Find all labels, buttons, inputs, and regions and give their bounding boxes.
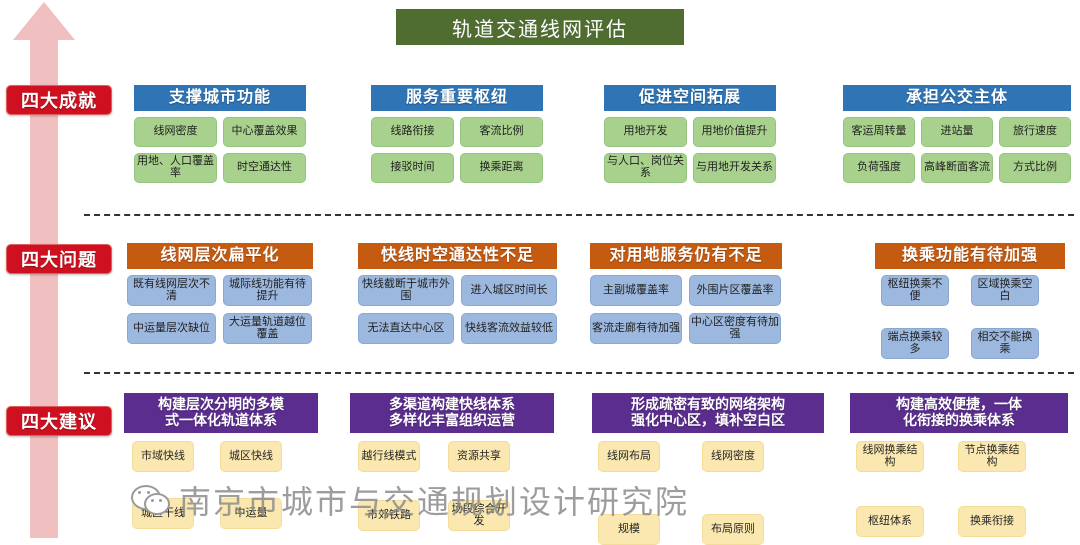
- divider-achievements-problems: [84, 214, 1074, 216]
- group-title-line2: 强化中心区，填补空白区: [631, 413, 785, 429]
- group-cells: 既有线网层次不清 城际线功能有待提升 中运量层次缺位 大运量轨道越位覆盖: [127, 275, 313, 344]
- issue-cell[interactable]: 既有线网层次不清: [127, 275, 216, 306]
- proposal-cell[interactable]: 线网布局: [598, 441, 660, 472]
- metric-cell[interactable]: 旅行速度: [999, 117, 1071, 147]
- issue-cell[interactable]: 客流走廊有待加强: [590, 313, 682, 344]
- metric-cell[interactable]: 用地开发: [604, 117, 687, 147]
- proposal-cell[interactable]: 城区干线: [132, 498, 194, 529]
- row-label-achievements: 四大成就: [6, 85, 112, 115]
- metric-cell[interactable]: 用地、人口覆盖率: [134, 153, 217, 183]
- proposal-cell[interactable]: 市域快线: [132, 441, 194, 472]
- proposal-cell[interactable]: 城区快线: [220, 441, 282, 472]
- problem-group-3: 对用地服务仍有不足 主副城覆盖率 外围片区覆盖率 客流走廊有待加强 中心区密度有…: [590, 243, 782, 344]
- issue-cell[interactable]: 无法直达中心区: [358, 313, 454, 344]
- group-title-line1: 多渠道构建快线体系: [389, 397, 515, 413]
- issue-cell[interactable]: 主副城覆盖率: [590, 275, 682, 306]
- metric-cell[interactable]: 高峰断面客流: [921, 153, 993, 183]
- row-label-problems: 四大问题: [6, 244, 112, 274]
- group-title: 支撑城市功能: [134, 85, 306, 111]
- proposal-cell[interactable]: 线网密度: [702, 441, 764, 472]
- group-title-line1: 构建层次分明的多模: [158, 397, 284, 413]
- achievement-group-3: 促进空间拓展 用地开发 用地价值提升 与人口、岗位关系 与用地开发关系: [604, 85, 776, 183]
- metric-cell[interactable]: 换乘距离: [460, 153, 543, 183]
- group-title: 形成疏密有致的网络架构 强化中心区，填补空白区: [592, 393, 824, 433]
- group-cells: 线网布局 线网密度 规模 布局原则: [592, 441, 824, 545]
- proposal-cell[interactable]: 越行线模式: [358, 441, 420, 472]
- metric-cell[interactable]: 接驳时间: [371, 153, 454, 183]
- group-title: 快线时空通达性不足: [358, 243, 557, 269]
- proposal-cell[interactable]: 场段综合开发: [448, 500, 510, 531]
- group-cells: 枢纽换乘不便 区域换乘空白 端点换乘较多 相交不能换乘: [875, 275, 1065, 359]
- group-title-line2: 式一体化轨道体系: [165, 413, 277, 429]
- metric-cell[interactable]: 线路衔接: [371, 117, 454, 147]
- issue-cell[interactable]: 快线客流效益较低: [461, 313, 557, 344]
- metric-cell[interactable]: 用地价值提升: [693, 117, 776, 147]
- suggestion-group-4: 构建高效便捷，一体 化衔接的换乘体系 线网换乘结构 节点换乘结构 枢纽体系 换乘…: [850, 393, 1068, 537]
- slide-canvas: 轨道交通线网评估 四大成就 四大问题 四大建议 支撑城市功能 线网密度 中心覆盖…: [0, 0, 1080, 538]
- group-title: 促进空间拓展: [604, 85, 776, 111]
- suggestion-group-3: 形成疏密有致的网络架构 强化中心区，填补空白区 线网布局 线网密度 规模 布局原…: [592, 393, 824, 545]
- group-cells: 线路衔接 客流比例 接驳时间 换乘距离: [371, 117, 543, 183]
- achievement-group-2: 服务重要枢纽 线路衔接 客流比例 接驳时间 换乘距离: [371, 85, 543, 183]
- problem-group-4: 换乘功能有待加强 枢纽换乘不便 区域换乘空白 端点换乘较多 相交不能换乘: [875, 243, 1065, 359]
- group-cells: 线网换乘结构 节点换乘结构 枢纽体系 换乘衔接: [850, 441, 1068, 537]
- issue-cell[interactable]: 快线截断于城市外围: [358, 275, 454, 306]
- group-cells: 越行线模式 资源共享 市郊铁路 场段综合开发: [350, 441, 554, 531]
- issue-cell[interactable]: 区域换乘空白: [971, 275, 1039, 306]
- metric-cell[interactable]: 方式比例: [999, 153, 1071, 183]
- group-title: 多渠道构建快线体系 多样化丰富组织运营: [350, 393, 554, 433]
- proposal-cell[interactable]: 换乘衔接: [958, 506, 1026, 537]
- issue-cell[interactable]: 相交不能换乘: [971, 328, 1039, 359]
- proposal-cell[interactable]: 规模: [598, 514, 660, 545]
- suggestion-group-2: 多渠道构建快线体系 多样化丰富组织运营 越行线模式 资源共享 市郊铁路 场段综合…: [350, 393, 554, 531]
- group-title: 承担公交主体: [843, 85, 1071, 111]
- group-title: 换乘功能有待加强: [875, 243, 1065, 269]
- proposal-cell[interactable]: 枢纽体系: [856, 506, 924, 537]
- group-title-line1: 形成疏密有致的网络架构: [631, 397, 785, 413]
- suggestion-group-1: 构建层次分明的多模 式一体化轨道体系 市域快线 城区快线 城区干线 中运量: [124, 393, 318, 529]
- issue-cell[interactable]: 端点换乘较多: [881, 328, 949, 359]
- issue-cell[interactable]: 枢纽换乘不便: [881, 275, 949, 306]
- proposal-cell[interactable]: 线网换乘结构: [856, 441, 924, 472]
- proposal-cell[interactable]: 节点换乘结构: [958, 441, 1026, 472]
- proposal-cell[interactable]: 市郊铁路: [358, 500, 420, 531]
- problem-group-2: 快线时空通达性不足 快线截断于城市外围 进入城区时间长 无法直达中心区 快线客流…: [358, 243, 557, 344]
- proposal-cell[interactable]: 布局原则: [702, 514, 764, 545]
- group-cells: 市域快线 城区快线 城区干线 中运量: [124, 441, 318, 529]
- group-title: 构建高效便捷，一体 化衔接的换乘体系: [850, 393, 1068, 433]
- metric-cell[interactable]: 与用地开发关系: [693, 153, 776, 183]
- issue-cell[interactable]: 大运量轨道越位覆盖: [223, 313, 312, 344]
- group-title-line1: 构建高效便捷，一体: [896, 397, 1022, 413]
- group-cells: 客运周转量 进站量 旅行速度 负荷强度 高峰断面客流 方式比例: [843, 117, 1071, 183]
- metric-cell[interactable]: 客运周转量: [843, 117, 915, 147]
- metric-cell[interactable]: 线网密度: [134, 117, 217, 147]
- group-title-line2: 化衔接的换乘体系: [903, 413, 1015, 429]
- row-label-suggestions: 四大建议: [6, 406, 112, 436]
- problem-group-1: 线网层次扁平化 既有线网层次不清 城际线功能有待提升 中运量层次缺位 大运量轨道…: [127, 243, 313, 344]
- achievement-group-1: 支撑城市功能 线网密度 中心覆盖效果 用地、人口覆盖率 时空通达性: [134, 85, 306, 183]
- metric-cell[interactable]: 中心覆盖效果: [223, 117, 306, 147]
- group-cells: 用地开发 用地价值提升 与人口、岗位关系 与用地开发关系: [604, 117, 776, 183]
- group-title: 服务重要枢纽: [371, 85, 543, 111]
- group-title: 构建层次分明的多模 式一体化轨道体系: [124, 393, 318, 433]
- issue-cell[interactable]: 外围片区覆盖率: [689, 275, 781, 306]
- achievement-group-4: 承担公交主体 客运周转量 进站量 旅行速度 负荷强度 高峰断面客流 方式比例: [843, 85, 1071, 183]
- metric-cell[interactable]: 时空通达性: [223, 153, 306, 183]
- issue-cell[interactable]: 中运量层次缺位: [127, 313, 216, 344]
- metric-cell[interactable]: 负荷强度: [843, 153, 915, 183]
- issue-cell[interactable]: 中心区密度有待加强: [689, 313, 781, 344]
- page-title: 轨道交通线网评估: [396, 9, 684, 45]
- metric-cell[interactable]: 客流比例: [460, 117, 543, 147]
- issue-cell[interactable]: 城际线功能有待提升: [223, 275, 312, 306]
- group-title: 对用地服务仍有不足: [590, 243, 782, 269]
- group-cells: 快线截断于城市外围 进入城区时间长 无法直达中心区 快线客流效益较低: [358, 275, 557, 344]
- group-title-line2: 多样化丰富组织运营: [389, 413, 515, 429]
- divider-problems-suggestions: [84, 372, 1074, 374]
- metric-cell[interactable]: 进站量: [921, 117, 993, 147]
- arrow-head-icon: [13, 2, 75, 40]
- metric-cell[interactable]: 与人口、岗位关系: [604, 153, 687, 183]
- group-cells: 线网密度 中心覆盖效果 用地、人口覆盖率 时空通达性: [134, 117, 306, 183]
- group-cells: 主副城覆盖率 外围片区覆盖率 客流走廊有待加强 中心区密度有待加强: [590, 275, 782, 344]
- group-title: 线网层次扁平化: [127, 243, 313, 269]
- issue-cell[interactable]: 进入城区时间长: [461, 275, 557, 306]
- proposal-cell[interactable]: 资源共享: [448, 441, 510, 472]
- proposal-cell[interactable]: 中运量: [220, 498, 282, 529]
